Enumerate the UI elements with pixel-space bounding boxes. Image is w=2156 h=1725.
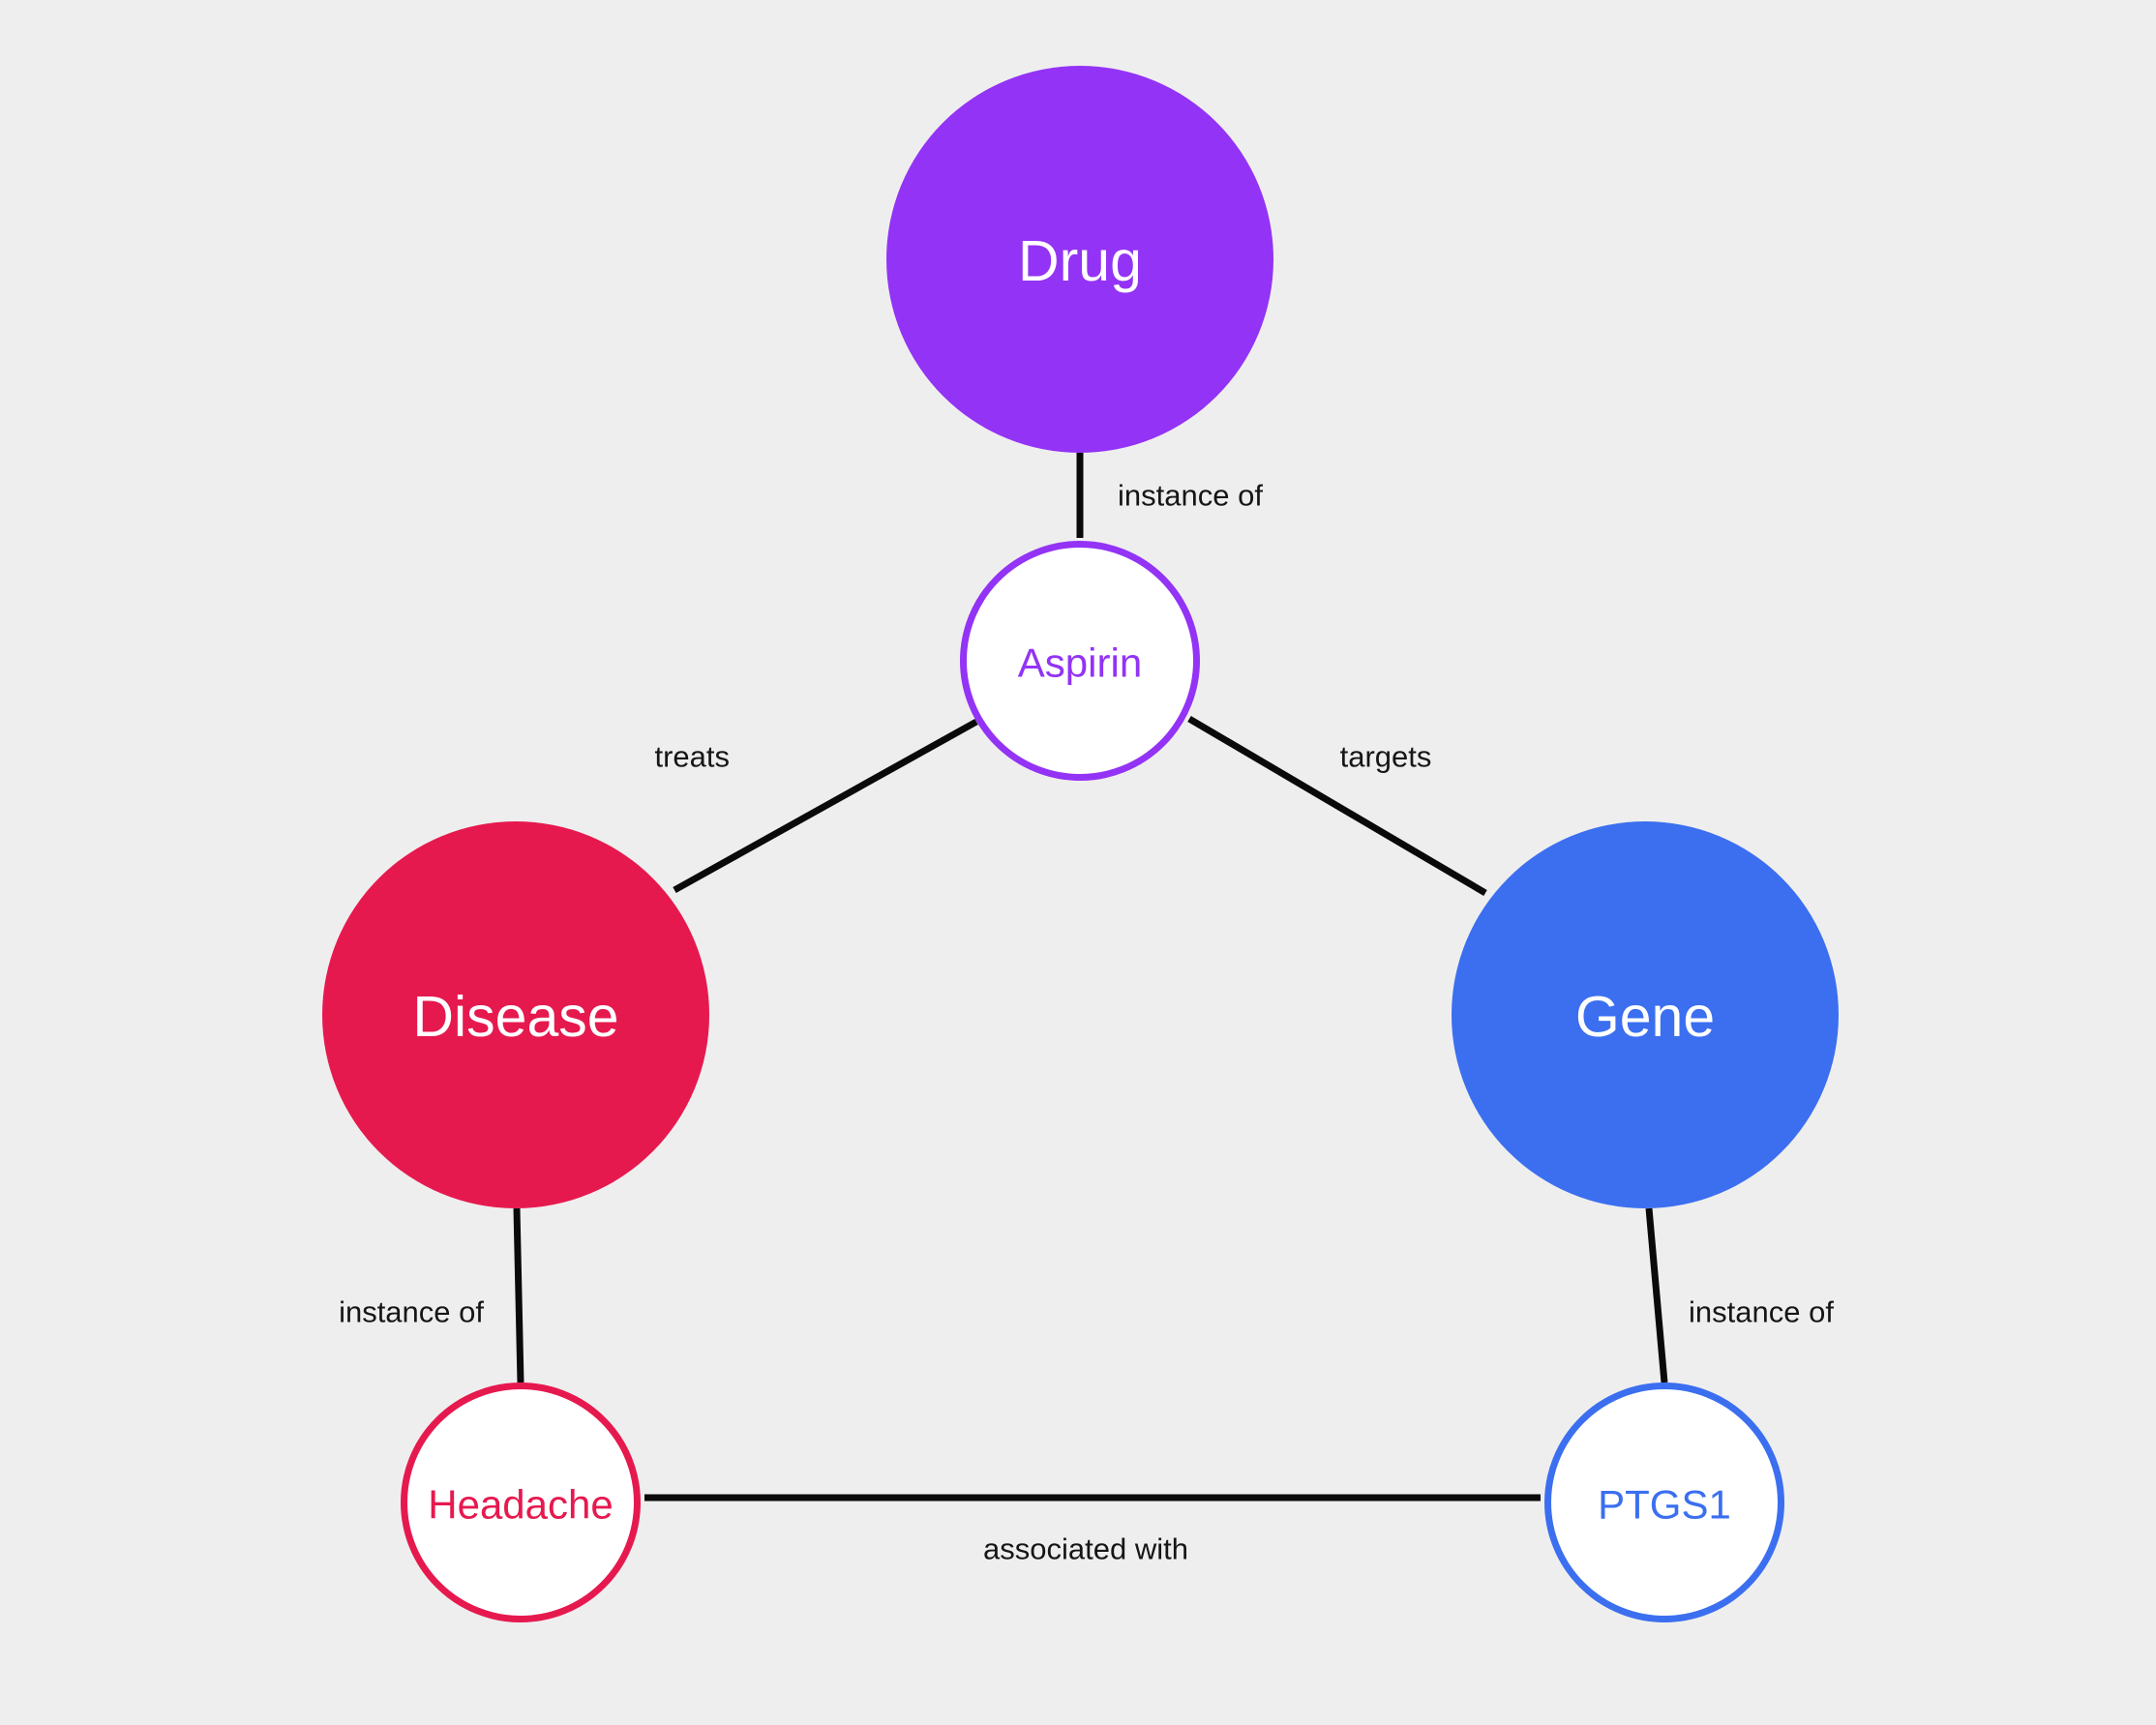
- graph-edge-disease-headache[interactable]: [517, 1208, 521, 1383]
- graph-node-ptgs1[interactable]: PTGS1: [1548, 1386, 1782, 1620]
- node-label-gene: Gene: [1575, 985, 1715, 1049]
- graph-node-headache[interactable]: Headache: [404, 1386, 638, 1620]
- graph-node-aspirin[interactable]: Aspirin: [964, 545, 1197, 778]
- graph-edge-aspirin-gene[interactable]: [1189, 719, 1485, 893]
- edge-label-gene-ptgs1: instance of: [1689, 1295, 1834, 1329]
- graph-edge-gene-ptgs1[interactable]: [1649, 1208, 1664, 1383]
- edge-label-aspirin-disease: treats: [654, 740, 730, 774]
- node-label-headache: Headache: [428, 1482, 613, 1528]
- nodes-layer: DrugAspirinDiseaseGeneHeadachePTGS1: [322, 66, 1839, 1620]
- knowledge-graph-canvas: DrugAspirinDiseaseGeneHeadachePTGS1 inst…: [0, 0, 2156, 1725]
- edge-label-aspirin-gene: targets: [1340, 740, 1432, 774]
- edge-label-drug-aspirin: instance of: [1118, 479, 1263, 513]
- graph-node-disease[interactable]: Disease: [322, 821, 709, 1208]
- node-label-aspirin: Aspirin: [1018, 640, 1142, 686]
- node-label-ptgs1: PTGS1: [1598, 1482, 1731, 1528]
- graph-node-gene[interactable]: Gene: [1452, 821, 1839, 1208]
- node-label-drug: Drug: [1018, 229, 1142, 293]
- graph-node-drug[interactable]: Drug: [886, 66, 1273, 453]
- node-label-disease: Disease: [412, 985, 618, 1049]
- graph-svg: DrugAspirinDiseaseGeneHeadachePTGS1 inst…: [0, 0, 2156, 1725]
- edge-label-disease-headache: instance of: [339, 1295, 484, 1329]
- edge-label-headache-ptgs1: associated with: [983, 1532, 1188, 1566]
